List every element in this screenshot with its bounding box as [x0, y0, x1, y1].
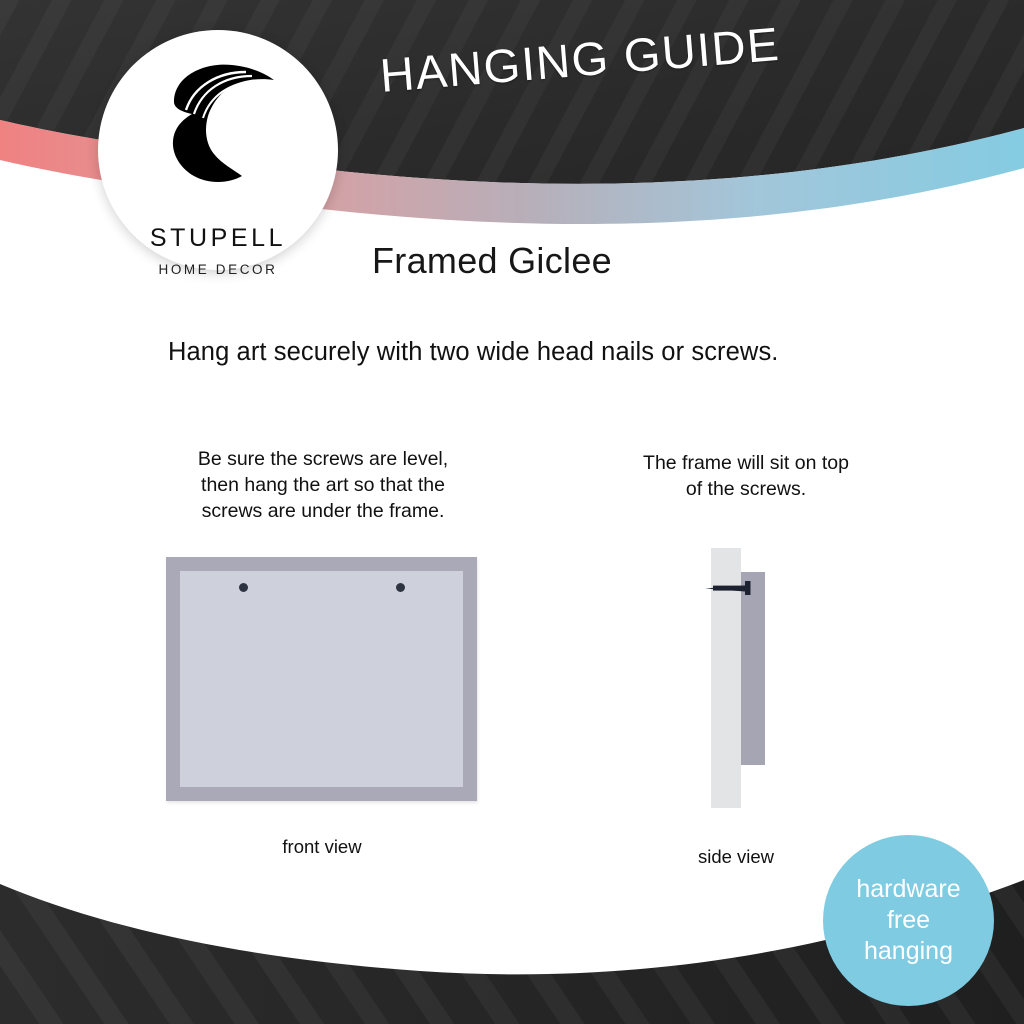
side-view-label: side view — [636, 846, 836, 868]
badge-line-2: free — [887, 905, 930, 936]
page-title: HANGING GUIDE — [378, 8, 881, 103]
logo-tagline: HOME DECOR — [98, 262, 338, 277]
nail-icon — [701, 576, 765, 600]
front-view-caption-line-2: then hang the art so that the — [150, 472, 496, 498]
stupell-s-swoosh-icon — [158, 58, 278, 186]
side-view-caption: The frame will sit on top of the screws. — [596, 450, 896, 502]
side-view-caption-line-1: The frame will sit on top — [596, 450, 896, 476]
front-view-caption: Be sure the screws are level, then hang … — [150, 446, 496, 524]
front-view-mat — [180, 571, 463, 787]
front-view-frame-diagram — [166, 557, 477, 801]
logo-wordmark: STUPELL — [98, 224, 338, 253]
screw-dot-right — [396, 583, 405, 592]
front-view-caption-line-3: screws are under the frame. — [150, 498, 496, 524]
product-type-subtitle: Framed Giclee — [372, 240, 612, 282]
badge-line-1: hardware — [856, 874, 960, 905]
badge-line-3: hanging — [864, 936, 953, 967]
hanging-guide-infographic: HANGING GUIDE STUPELL HOME DECOR Framed … — [0, 0, 1024, 1024]
front-view-caption-line-1: Be sure the screws are level, — [150, 446, 496, 472]
hardware-free-hanging-badge: hardware free hanging — [823, 835, 994, 1006]
screw-dot-left — [239, 583, 248, 592]
side-view-caption-line-2: of the screws. — [596, 476, 896, 502]
brand-logo-badge: STUPELL HOME DECOR — [98, 30, 338, 270]
front-view-label: front view — [222, 836, 422, 858]
primary-instruction: Hang art securely with two wide head nai… — [168, 338, 778, 367]
side-view-frame-slab — [741, 572, 765, 765]
